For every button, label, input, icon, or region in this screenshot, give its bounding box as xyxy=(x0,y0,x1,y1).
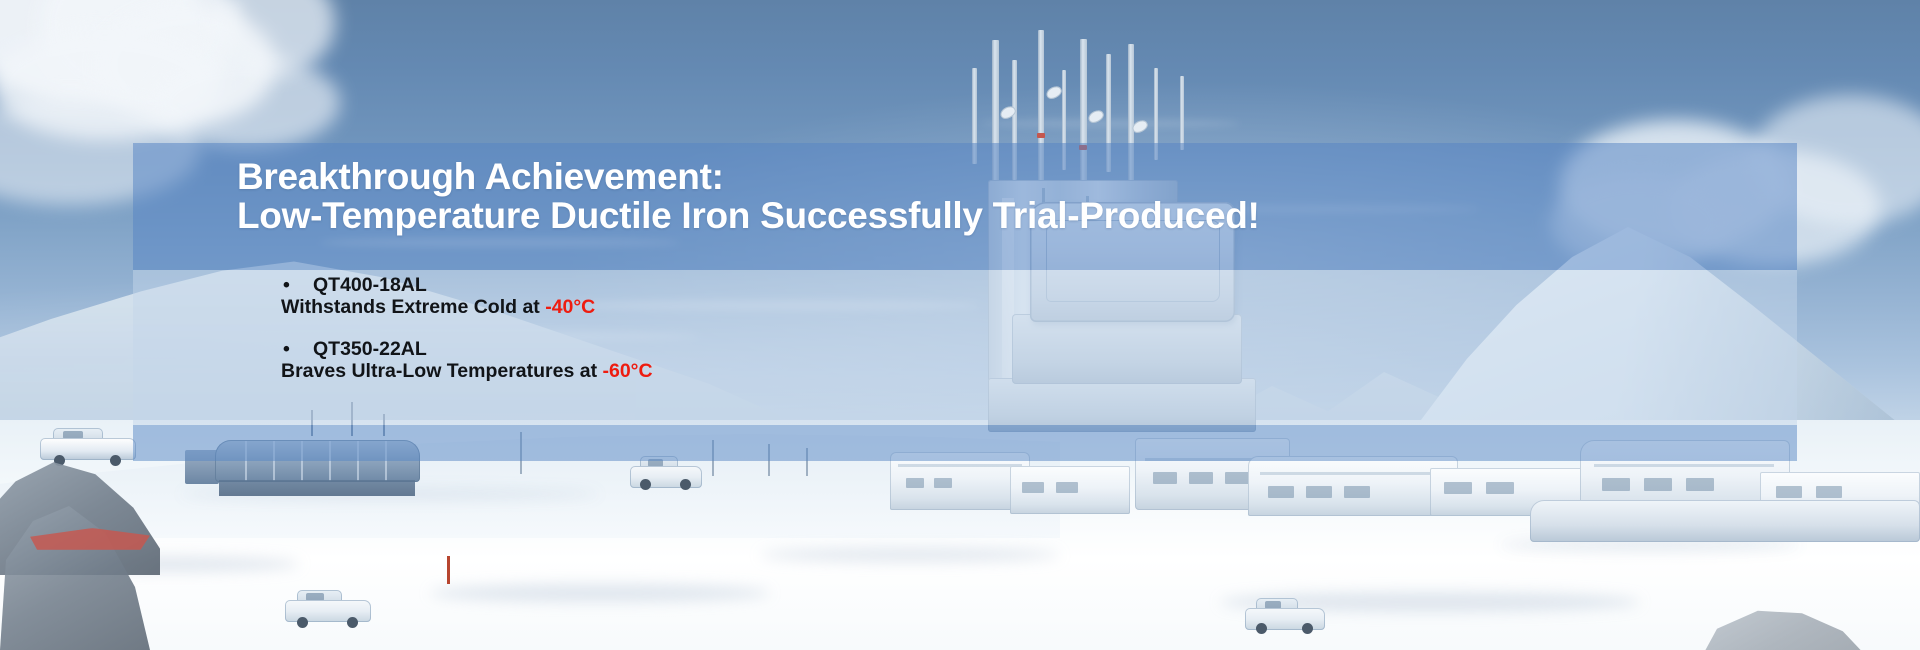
headline-band: Breakthrough Achievement: Low-Temperatur… xyxy=(133,143,1797,270)
text-overlay-panel: Breakthrough Achievement: Low-Temperatur… xyxy=(133,143,1797,461)
station-building xyxy=(1248,456,1458,516)
habitat-support-legs xyxy=(219,480,415,496)
building-window xyxy=(1189,472,1213,484)
building-window xyxy=(1153,472,1177,484)
building-stripe xyxy=(1594,464,1774,467)
station-building xyxy=(1010,466,1130,514)
vehicle-wheel xyxy=(110,455,121,466)
vehicle-wheel xyxy=(1302,623,1313,634)
suv-vehicle xyxy=(285,590,371,624)
building-window xyxy=(1776,486,1802,498)
description-text: Braves Ultra-Low Temperatures at xyxy=(281,360,603,382)
building-window xyxy=(1306,486,1332,498)
list-item: •QT400-18AL Withstands Extreme Cold at -… xyxy=(283,275,653,318)
bullet-dot-icon: • xyxy=(283,275,290,296)
grade-label: QT400-18AL xyxy=(313,274,427,296)
headline-line-2: Low-Temperature Ductile Iron Successfull… xyxy=(237,197,1260,234)
list-item: •QT350-22AL Braves Ultra-Low Temperature… xyxy=(283,339,653,382)
building-window xyxy=(1816,486,1842,498)
building-stripe xyxy=(898,464,1022,467)
snow-shadow xyxy=(760,548,1060,562)
building-window xyxy=(1268,486,1294,498)
vehicle-wheel xyxy=(640,479,651,490)
page-title: Breakthrough Achievement: Low-Temperatur… xyxy=(237,158,1260,234)
product-grade-list: •QT400-18AL Withstands Extreme Cold at -… xyxy=(283,275,653,382)
bullet-description: Braves Ultra-Low Temperatures at -60°C xyxy=(281,361,653,382)
building-window xyxy=(906,478,924,488)
satellite-dish-icon xyxy=(1044,84,1063,101)
bullet-description: Withstands Extreme Cold at -40°C xyxy=(281,297,653,318)
building-window xyxy=(1486,482,1514,494)
temperature-value: -40°C xyxy=(545,296,595,318)
bullet-dot-icon: • xyxy=(283,339,290,360)
building-window xyxy=(1644,478,1672,491)
headline-line-1: Breakthrough Achievement: xyxy=(237,158,1260,195)
bullets-band: •QT400-18AL Withstands Extreme Cold at -… xyxy=(133,270,1797,425)
antenna-mast xyxy=(1180,76,1184,150)
building-window xyxy=(1225,472,1249,484)
bullet-heading: •QT400-18AL xyxy=(283,275,653,296)
building-window xyxy=(1056,482,1078,493)
footer-band xyxy=(133,425,1797,461)
building-window xyxy=(1444,482,1472,494)
vehicle-wheel xyxy=(680,479,691,490)
temperature-value: -60°C xyxy=(603,360,653,382)
promotional-banner: Breakthrough Achievement: Low-Temperatur… xyxy=(0,0,1920,650)
module-train xyxy=(1530,500,1920,542)
snow-shadow xyxy=(430,584,770,602)
bullet-heading: •QT350-22AL xyxy=(283,339,653,360)
grade-label: QT350-22AL xyxy=(313,338,427,360)
building-window xyxy=(1686,478,1714,491)
vehicle-wheel xyxy=(1256,623,1267,634)
satellite-dish-icon xyxy=(1086,108,1105,125)
mast-marker xyxy=(1037,133,1045,138)
marker-flag xyxy=(447,556,450,584)
building-window xyxy=(1602,478,1630,491)
snow-truck-vehicle xyxy=(40,428,136,462)
car-vehicle xyxy=(1245,598,1325,630)
building-window xyxy=(1344,486,1370,498)
vehicle-wheel xyxy=(297,617,308,628)
description-text: Withstands Extreme Cold at xyxy=(281,296,545,318)
building-stripe xyxy=(1260,472,1442,475)
building-window xyxy=(934,478,952,488)
vehicle-wheel xyxy=(347,617,358,628)
building-window xyxy=(1022,482,1044,493)
